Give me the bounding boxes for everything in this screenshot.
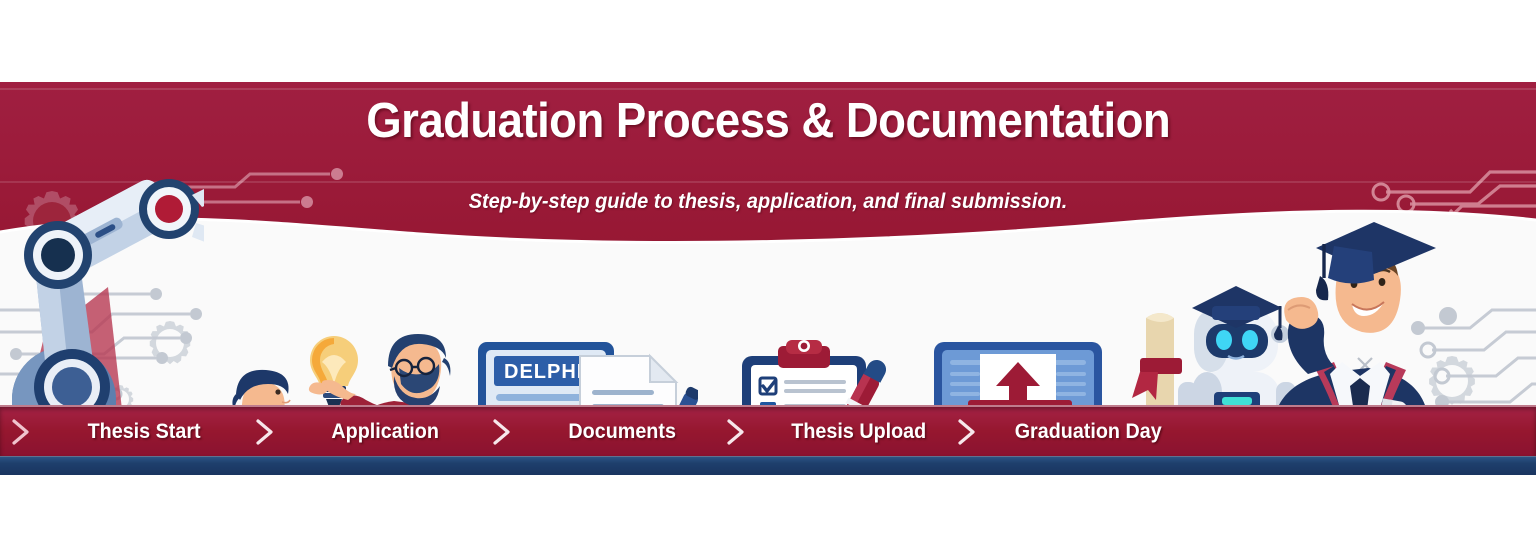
chevron-right-icon-2 [489,417,515,447]
top-hairline [0,88,1536,90]
title-rule [0,181,1536,183]
banner: Graduation Process & Documentation Step-… [0,82,1536,475]
navy-bottom-bar [0,456,1536,475]
step-documents[interactable]: Documents [565,407,679,457]
step-label-2: Documents [568,420,675,444]
chevron-right-icon-4 [954,417,980,447]
step-label-0: Thesis Start [88,420,201,444]
page-subtitle: Step-by-step guide to thesis, applicatio… [38,190,1497,214]
step-thesis-start[interactable]: Thesis Start [84,407,204,457]
process-step-list: Thesis Start Application Documents Thesi… [0,407,1536,457]
industrial-robot-arm [4,137,204,427]
svg-text:DELPHI: DELPHI [504,361,583,383]
step-graduation-day[interactable]: Graduation Day [1010,407,1166,457]
banner-title-wrap: Graduation Process & Documentation [0,97,1536,146]
chevron-right-icon-0 [8,417,34,447]
page-title: Graduation Process & Documentation [366,97,1170,146]
step-label-1: Application [332,420,439,444]
chevron-right-icon-1 [252,417,278,447]
step-thesis-upload[interactable]: Thesis Upload [787,407,931,457]
step-application[interactable]: Application [328,407,442,457]
step-label-3: Thesis Upload [791,420,926,444]
step-label-4: Graduation Day [1015,420,1162,444]
process-step-bar: Thesis Start Application Documents Thesi… [0,405,1536,457]
chevron-right-icon-3 [723,417,749,447]
